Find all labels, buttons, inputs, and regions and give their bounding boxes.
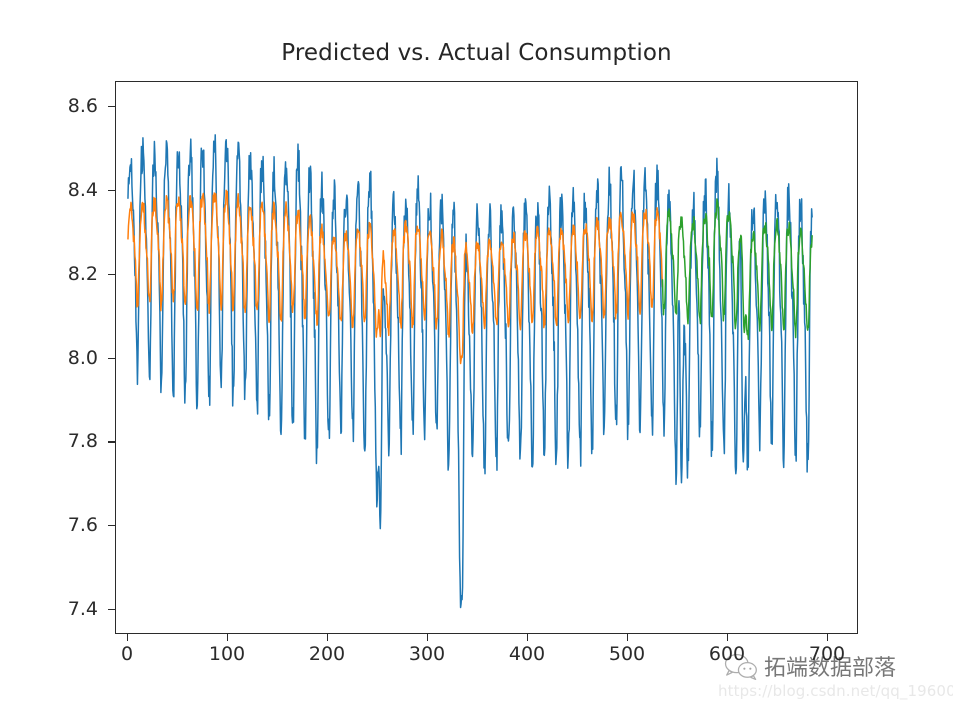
y-tick-label: 7.4 bbox=[38, 598, 98, 620]
y-tick-mark bbox=[108, 358, 115, 359]
y-tick-label: 7.8 bbox=[38, 430, 98, 452]
x-tick-mark bbox=[127, 634, 128, 641]
y-tick-mark bbox=[108, 609, 115, 610]
y-tick-mark bbox=[108, 106, 115, 107]
x-tick-label: 200 bbox=[309, 643, 345, 665]
x-tick-mark bbox=[527, 634, 528, 641]
y-tick-label: 8.2 bbox=[38, 263, 98, 285]
page-title: Predicted vs. Actual Consumption bbox=[0, 40, 953, 66]
x-tick-mark bbox=[327, 634, 328, 641]
x-tick-label: 600 bbox=[709, 643, 745, 665]
x-tick-mark bbox=[427, 634, 428, 641]
x-tick-label: 300 bbox=[409, 643, 445, 665]
y-tick-label: 7.6 bbox=[38, 514, 98, 536]
y-tick-mark bbox=[108, 441, 115, 442]
x-tick-label: 0 bbox=[121, 643, 133, 665]
y-tick-label: 8.0 bbox=[38, 347, 98, 369]
x-tick-label: 500 bbox=[609, 643, 645, 665]
x-tick-mark bbox=[227, 634, 228, 641]
x-tick-mark bbox=[727, 634, 728, 641]
y-tick-mark bbox=[108, 274, 115, 275]
x-tick-mark bbox=[627, 634, 628, 641]
x-tick-label: 100 bbox=[209, 643, 245, 665]
y-tick-label: 8.4 bbox=[38, 179, 98, 201]
y-tick-mark bbox=[108, 525, 115, 526]
series-canvas bbox=[116, 82, 857, 633]
matplotlib-figure: Predicted vs. Actual Consumption 拓端数据部落 … bbox=[0, 0, 953, 713]
y-tick-mark bbox=[108, 190, 115, 191]
watermark-url: https://blog.csdn.net/qq_19600291 bbox=[718, 682, 953, 700]
series-line-actual bbox=[128, 135, 812, 608]
x-tick-mark bbox=[827, 634, 828, 641]
x-tick-label: 400 bbox=[509, 643, 545, 665]
x-tick-label: 700 bbox=[809, 643, 845, 665]
y-tick-label: 8.6 bbox=[38, 95, 98, 117]
plot-axes bbox=[115, 81, 858, 634]
